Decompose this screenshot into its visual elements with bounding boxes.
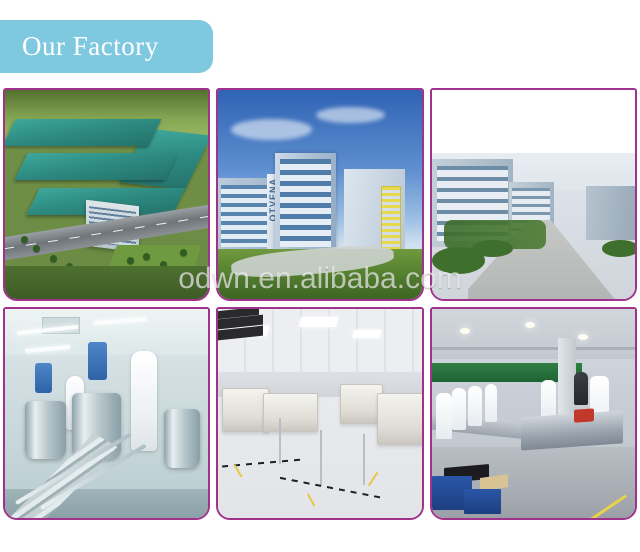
trolley-post (363, 434, 365, 484)
photo-frame-clean-production-floor[interactable] (216, 307, 423, 520)
tree (50, 255, 57, 262)
page-title: Our Factory (0, 31, 159, 62)
factory-roof (5, 119, 162, 146)
photo-clean-production-floor (218, 309, 421, 518)
line-worker (452, 388, 466, 430)
photo-office-building: OTVENA (218, 90, 421, 299)
photo-frame-assembly-line[interactable] (430, 307, 637, 520)
factory-photo-gallery: OTVENA (3, 88, 637, 520)
stainless-reactor-tank (164, 409, 201, 468)
line-worker (574, 372, 588, 405)
yellow-floor-marker (307, 494, 315, 507)
floor-marking-line (280, 477, 384, 499)
photo-frame-reactor-cleanroom[interactable] (3, 307, 210, 520)
photo-campus-road (432, 90, 635, 299)
high-bay-lamp (525, 322, 535, 328)
hedge (602, 240, 635, 257)
conveyor-equipment (521, 410, 623, 451)
cloud (231, 119, 312, 140)
ceiling-light-panel (298, 317, 337, 327)
line-worker (485, 384, 497, 422)
exterior-stairway (381, 186, 401, 251)
stainless-reactor-tank (25, 401, 66, 460)
line-worker (436, 393, 452, 439)
ceiling (432, 309, 635, 359)
photo-reactor-cleanroom (5, 309, 208, 518)
gallery-row-bottom (3, 307, 637, 520)
production-machine (377, 393, 422, 445)
trolley-post (320, 430, 322, 484)
workshop-building (586, 186, 635, 240)
tree (180, 249, 187, 256)
main-office-tower (275, 153, 336, 253)
agitator-motor (88, 342, 106, 380)
photo-frame-campus-road[interactable] (430, 88, 637, 301)
factory-roof (15, 153, 179, 180)
yellow-floor-marker (367, 472, 378, 487)
blue-crate (464, 489, 501, 514)
ceiling-beam (432, 347, 635, 350)
photo-frame-aerial-campus[interactable] (3, 88, 210, 301)
photo-assembly-line (432, 309, 635, 518)
trolley-post (279, 418, 281, 464)
yellow-floor-marker (233, 464, 242, 477)
photo-aerial-campus (5, 90, 208, 299)
gallery-row-top: OTVENA (3, 88, 637, 301)
section-title-banner: Our Factory (0, 20, 213, 73)
line-worker (468, 386, 482, 426)
production-machine (263, 393, 318, 433)
ceiling-light-panel (352, 330, 382, 338)
factory-showcase-page: Our Factory (0, 0, 640, 552)
cloud (316, 107, 385, 124)
red-parts-bin (574, 409, 594, 423)
high-bay-lamp (460, 328, 470, 334)
foreground-vegetation (5, 266, 208, 299)
worker-in-coverall (131, 351, 157, 451)
agitator-motor (35, 363, 51, 392)
photo-frame-office-building[interactable]: OTVENA (216, 88, 423, 301)
